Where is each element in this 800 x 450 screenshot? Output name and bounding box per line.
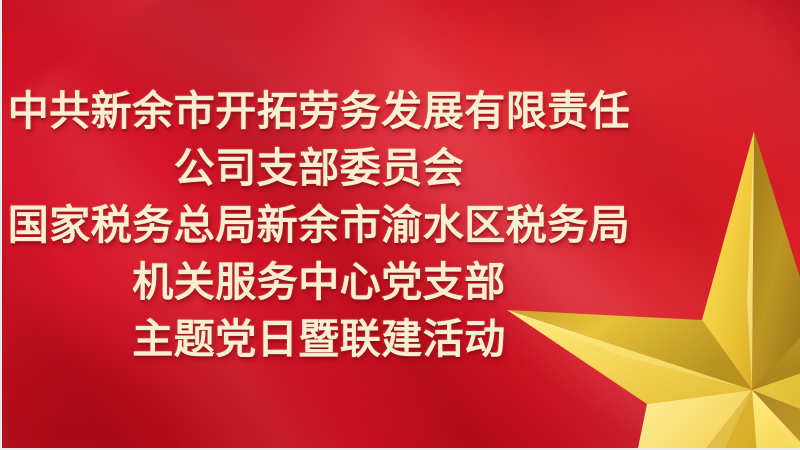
banner-title-block: 中共新余市开拓劳务发展有限责任 公司支部委员会 国家税务总局新余市渝水区税务局 … [2, 0, 636, 450]
banner-line-3: 国家税务总局新余市渝水区税务局 [8, 197, 631, 254]
banner-line-5: 主题党日暨联建活动 [132, 311, 506, 368]
banner-line-4: 机关服务中心党支部 [132, 254, 506, 311]
banner-line-2: 公司支部委员会 [174, 140, 465, 197]
party-event-banner: 中共新余市开拓劳务发展有限责任 公司支部委员会 国家税务总局新余市渝水区税务局 … [0, 0, 800, 450]
banner-line-1: 中共新余市开拓劳务发展有限责任 [8, 83, 631, 140]
